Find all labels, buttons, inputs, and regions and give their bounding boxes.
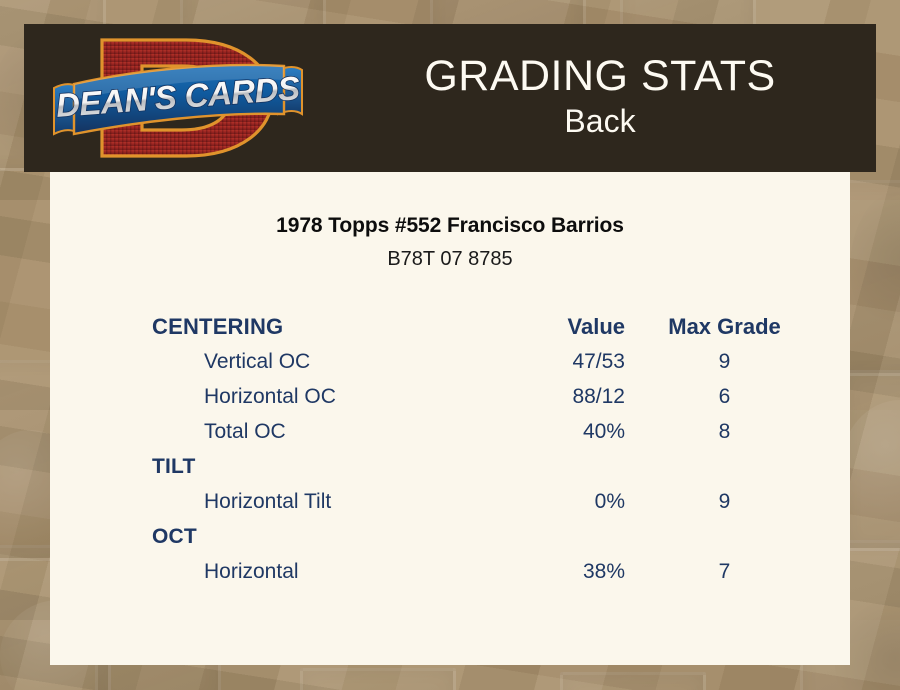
column-header-max-grade: Max Grade [637,309,812,344]
section-value-spacer [502,519,637,554]
table-row: Horizontal Tilt0%9 [152,484,812,519]
page-subtitle: Back [564,101,635,141]
row-value: 0% [502,484,637,519]
row-value: 38% [502,554,637,589]
deans-cards-logo: DEAN'S CARDS [46,26,308,170]
row-label: Vertical OC [152,344,502,379]
table-row: Total OC40%8 [152,414,812,449]
row-max-grade: 6 [637,379,812,414]
background-card-ghost [300,668,456,690]
row-max-grade: 8 [637,414,812,449]
header-bar: DEAN'S CARDS GRADING STATS Back [24,24,876,172]
row-max-grade: 7 [637,554,812,589]
column-header-value: Value [502,309,637,344]
row-label: Horizontal [152,554,502,589]
card-serial-number: B78T 07 8785 [50,248,850,271]
section-grade-spacer [637,519,812,554]
table-row: Horizontal38%7 [152,554,812,589]
table-row: Vertical OC47/539 [152,344,812,379]
table-body: Vertical OC47/539Horizontal OC88/126Tota… [152,344,812,589]
row-max-grade: 9 [637,344,812,379]
page-title: GRADING STATS [424,55,775,99]
table-row: Horizontal OC88/126 [152,379,812,414]
table-header: CENTERING Value Max Grade [152,309,812,344]
content-panel: 1978 Topps #552 Francisco Barrios B78T 0… [50,172,850,665]
section-label: OCT [152,519,502,554]
header-title-block: GRADING STATS Back [324,24,876,172]
row-label: Total OC [152,414,502,449]
row-max-grade: 9 [637,484,812,519]
section-header-row: TILT [152,449,812,484]
card-title: 1978 Topps #552 Francisco Barrios [50,214,850,238]
row-label: Horizontal Tilt [152,484,502,519]
row-value: 88/12 [502,379,637,414]
column-header-centering: CENTERING [152,309,502,344]
section-value-spacer [502,449,637,484]
section-header-row: OCT [152,519,812,554]
background-card-ghost [560,672,706,690]
grading-stats-table: CENTERING Value Max Grade Vertical OC47/… [152,309,812,589]
row-value: 40% [502,414,637,449]
row-label: Horizontal OC [152,379,502,414]
table-header-row: CENTERING Value Max Grade [152,309,812,344]
section-label: TILT [152,449,502,484]
section-grade-spacer [637,449,812,484]
row-value: 47/53 [502,344,637,379]
